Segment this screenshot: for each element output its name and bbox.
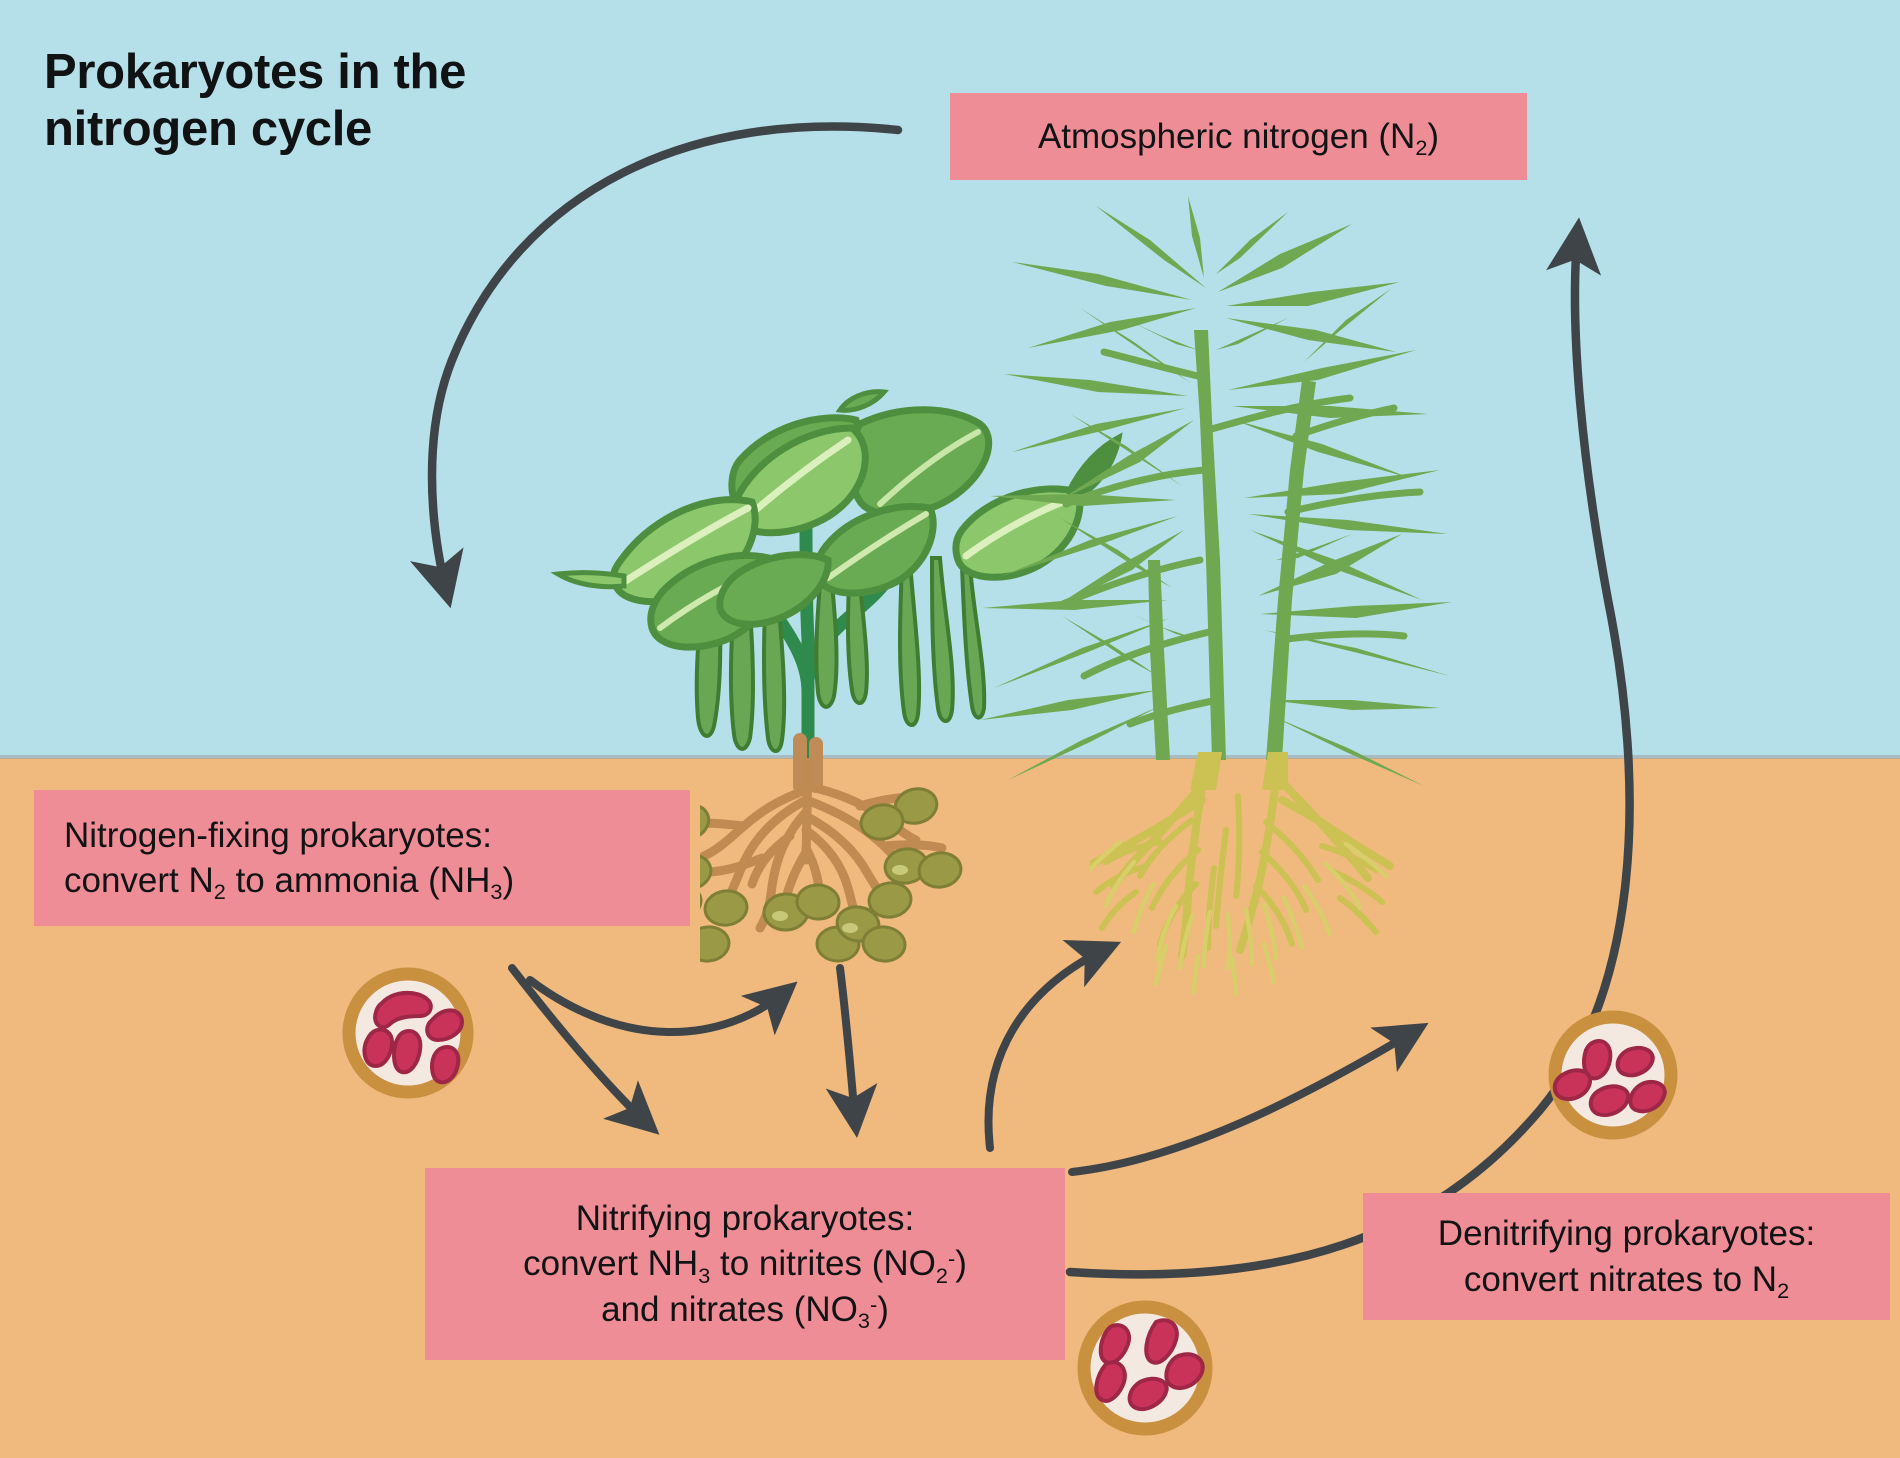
legume-root-system [657, 762, 963, 963]
fixing-to-nitrifying-arrow [512, 968, 652, 1128]
nitrogen-cycle-diagram: Prokaryotes in the nitrogen cycle Atmosp… [0, 0, 1900, 1458]
arrows [432, 126, 1630, 1274]
nitrifying-line-3: and nitrates (NO3-) [601, 1287, 889, 1333]
legume-plant [558, 392, 1120, 786]
page-title: Prokaryotes in the nitrogen cycle [44, 44, 604, 159]
denitrifying-line-1: Denitrifying prokaryotes: [1438, 1211, 1815, 1257]
nitrifying-line-2: convert NH3 to nitrites (NO2-) [523, 1241, 967, 1287]
atmospheric-text: Atmospheric nitrogen (N2) [1038, 114, 1439, 160]
fixing-to-legume-root-arrow [530, 980, 790, 1032]
legume-root-to-nitrifying-arrow [840, 968, 856, 1128]
nitrogen-fixing-bacteria-icon [349, 974, 467, 1092]
title-line-2: nitrogen cycle [44, 102, 372, 156]
grass-root-system [1086, 762, 1390, 994]
fixing-line-1: Nitrogen-fixing prokaryotes: [64, 813, 492, 859]
label-atmospheric-nitrogen[interactable]: Atmospheric nitrogen (N2) [950, 93, 1527, 180]
denitrifying-line-2: convert nitrates to N2 [1464, 1257, 1789, 1303]
label-denitrifying-prokaryotes[interactable]: Denitrifying prokaryotes: convert nitrat… [1363, 1193, 1890, 1320]
nitrifying-to-grass-root-arrow [989, 946, 1112, 1148]
title-line-1: Prokaryotes in the [44, 45, 466, 99]
denitrifying-bacteria-icon [1555, 1017, 1671, 1133]
label-nitrifying-prokaryotes[interactable]: Nitrifying prokaryotes: convert NH3 to n… [425, 1168, 1065, 1360]
label-nitrogen-fixing-prokaryotes[interactable]: Nitrogen-fixing prokaryotes: convert N2 … [34, 790, 690, 926]
nitrifying-bacteria-icon [1084, 1307, 1206, 1429]
fixing-line-2: convert N2 to ammonia (NH3) [64, 858, 514, 904]
nitrifying-line-1: Nitrifying prokaryotes: [576, 1196, 914, 1242]
nitrifying-to-denitrifying-arrow [1072, 1028, 1420, 1172]
